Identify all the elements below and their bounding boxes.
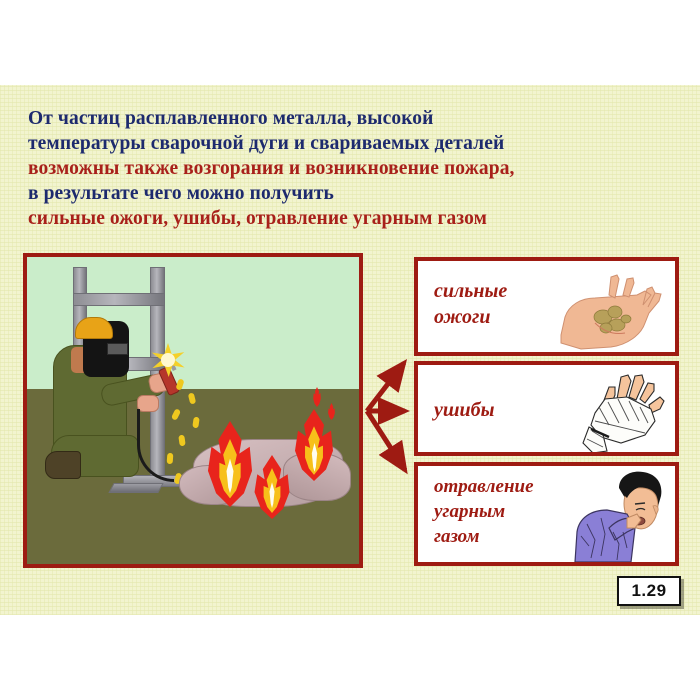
welder-figure (45, 317, 185, 517)
label-line: газом (434, 524, 534, 549)
consequence-card-poisoning: отравление угарным газом (414, 462, 679, 566)
label-line: ушибы (434, 397, 495, 423)
spark (167, 453, 174, 464)
welder-cap (75, 317, 113, 339)
heading-line-3: возможны также возгорания и возникновени… (28, 156, 668, 181)
label-line: сильные (434, 278, 507, 304)
heading-line-2: температуры сварочной дуги и свариваемых… (28, 131, 668, 156)
heading-line-4: в результате чего можно получить (28, 181, 668, 206)
heading-line-1: От частиц расплавленного металла, высоко… (28, 106, 668, 131)
page-number-badge: 1.29 (617, 576, 681, 606)
heading-line-5: сильные ожоги, ушибы, отравление угарным… (28, 206, 668, 231)
label-line: угарным (434, 499, 534, 524)
steel-beam-top (73, 293, 165, 306)
welding-illustration (23, 253, 363, 568)
consequence-label-burns: сильные ожоги (434, 278, 507, 330)
label-line: отравление (434, 474, 534, 499)
arrow-to-burns (367, 363, 404, 411)
label-line: ожоги (434, 304, 507, 330)
welding-mask-visor (107, 343, 128, 355)
consequence-card-bruises: ушибы (414, 361, 679, 456)
heading-block: От частиц расплавленного металла, высоко… (28, 106, 668, 231)
coughing-person-icon (561, 470, 669, 564)
consequence-card-burns: сильные ожоги (414, 257, 679, 356)
bandaged-hand-icon (565, 369, 669, 455)
burned-hand-icon (551, 265, 669, 353)
arrow-to-poisoning (367, 411, 405, 470)
slide-canvas: От частиц расплавленного металла, высоко… (0, 85, 700, 615)
consequence-label-poisoning: отравление угарным газом (434, 474, 534, 549)
welding-cable (137, 409, 174, 482)
weld-arc-core (161, 353, 175, 367)
consequence-label-bruises: ушибы (434, 397, 495, 423)
welder-boot (45, 451, 81, 479)
